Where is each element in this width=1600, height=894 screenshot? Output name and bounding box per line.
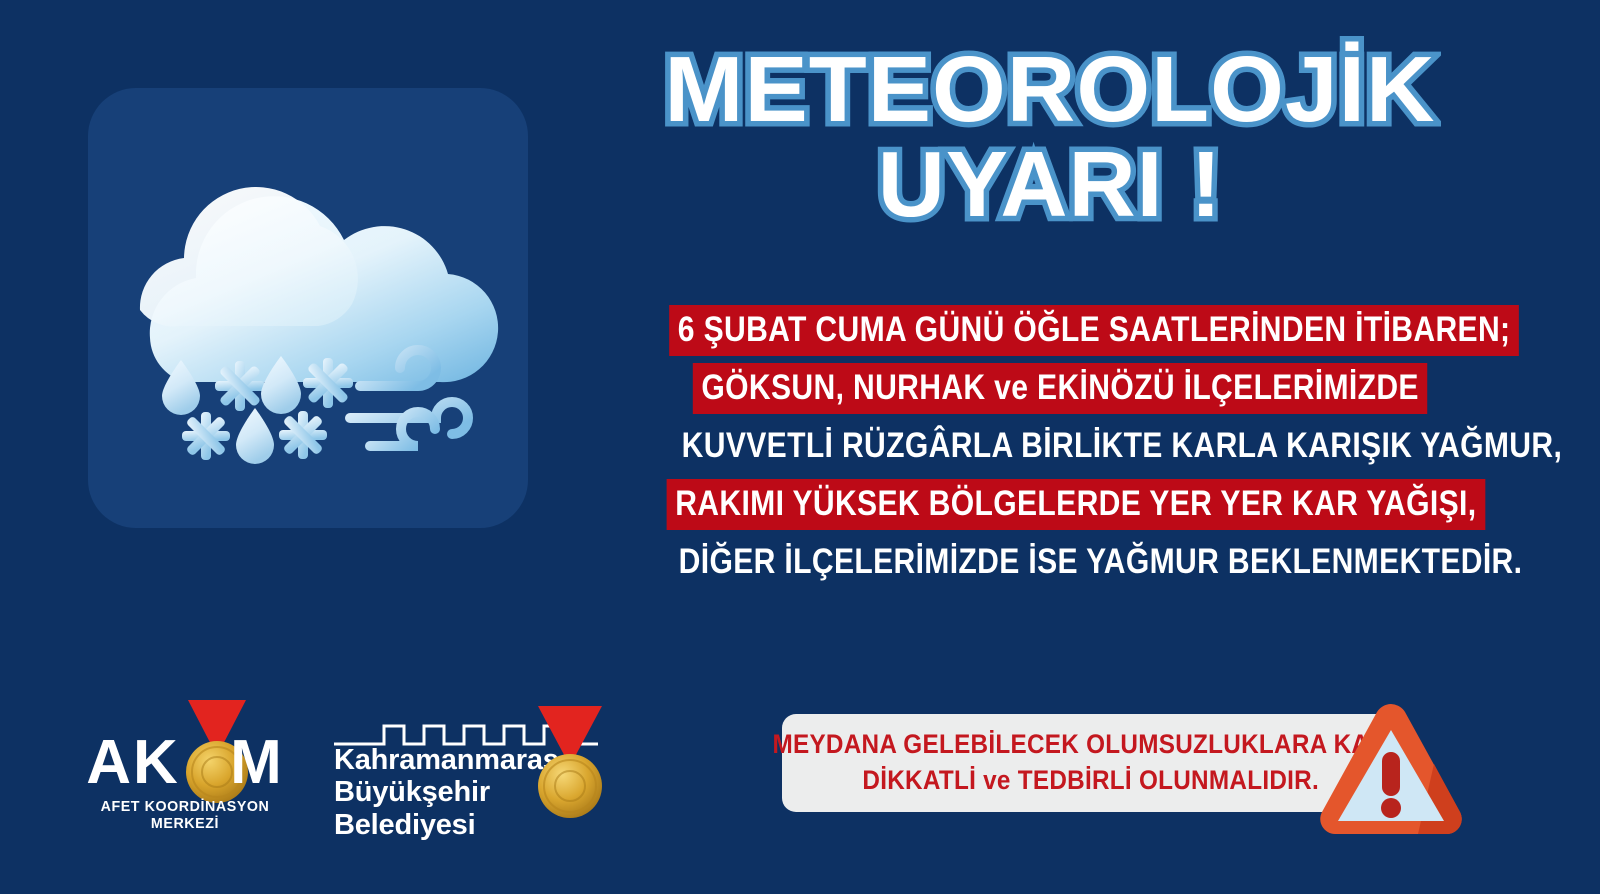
akom-logo: AKOM AFET KOORDİNASYON MERKEZİ [70,698,300,816]
meteorological-warning-poster: METEOROLOJİK UYARI ! 6 ŞUBAT CUMA GÜNÜ Ö… [0,0,1600,894]
municipality-logo: Kahramanmaraş Büyükşehir Belediyesi [332,702,600,820]
advisory-line-2: DİKKATLİ ve TEDBİRLİ OLUNMALIDIR. [863,763,1320,799]
akom-wordmark-left: AK [86,728,180,797]
akom-wordmark-right: M [230,728,284,797]
snowflake-icon [279,411,327,459]
message-line-text: 6 ŞUBAT CUMA GÜNÜ ÖĞLE SAATLERİNDEN İTİB… [669,305,1519,356]
message-line-text: DİĞER İLÇELERİMİZDE İSE YAĞMUR BEKLENMEK… [670,537,1531,588]
message-line: GÖKSUN, NURHAK ve EKİNÖZÜ İLÇELERİMİZDE [600,363,1520,414]
weather-icon-panel [88,88,528,528]
message-line: RAKIMI YÜKSEK BÖLGELERDE YER YER KAR YAĞ… [600,479,1520,530]
cloud-rain-snow-wind-icon [88,88,528,528]
message-line: 6 ŞUBAT CUMA GÜNÜ ÖĞLE SAATLERİNDEN İTİB… [600,305,1520,356]
message-line-text: GÖKSUN, NURHAK ve EKİNÖZÜ İLÇELERİMİZDE [693,363,1428,414]
advisory-box: MEYDANA GELEBİLECEK OLUMSUZLUKLARA KARŞI… [782,714,1400,812]
message-line: DİĞER İLÇELERİMİZDE İSE YAĞMUR BEKLENMEK… [600,537,1520,588]
akom-subtitle: AFET KOORDİNASYON MERKEZİ [76,798,295,832]
message-line: KUVVETLİ RÜZGÂRLA BİRLİKTE KARLA KARIŞIK… [600,421,1520,472]
snowflake-icon [215,361,265,411]
cloud-shape [140,187,498,382]
message-line-text: KUVVETLİ RÜZGÂRLA BİRLİKTE KARLA KARIŞIK… [673,421,1571,472]
precipitation-row-2 [182,408,327,464]
raindrop-icon [236,408,274,464]
headline-line-1: METEOROLOJİK [591,44,1509,135]
message-line-text: RAKIMI YÜKSEK BÖLGELERDE YER YER KAR YAĞ… [667,479,1485,530]
snowflake-icon [303,358,353,408]
headline-line-2: UYARI ! [600,139,1500,230]
snowflake-icon [182,412,230,460]
advisory-line-1: MEYDANA GELEBİLECEK OLUMSUZLUKLARA KARŞI [772,727,1410,763]
medal-with-red-ribbon-icon [532,704,608,820]
akom-wordmark: AKOM [70,732,300,794]
page-title: METEOROLOJİK UYARI ! [600,44,1500,230]
warning-triangle-icon [1318,700,1464,834]
warning-message: 6 ŞUBAT CUMA GÜNÜ ÖĞLE SAATLERİNDEN İTİB… [600,305,1520,595]
